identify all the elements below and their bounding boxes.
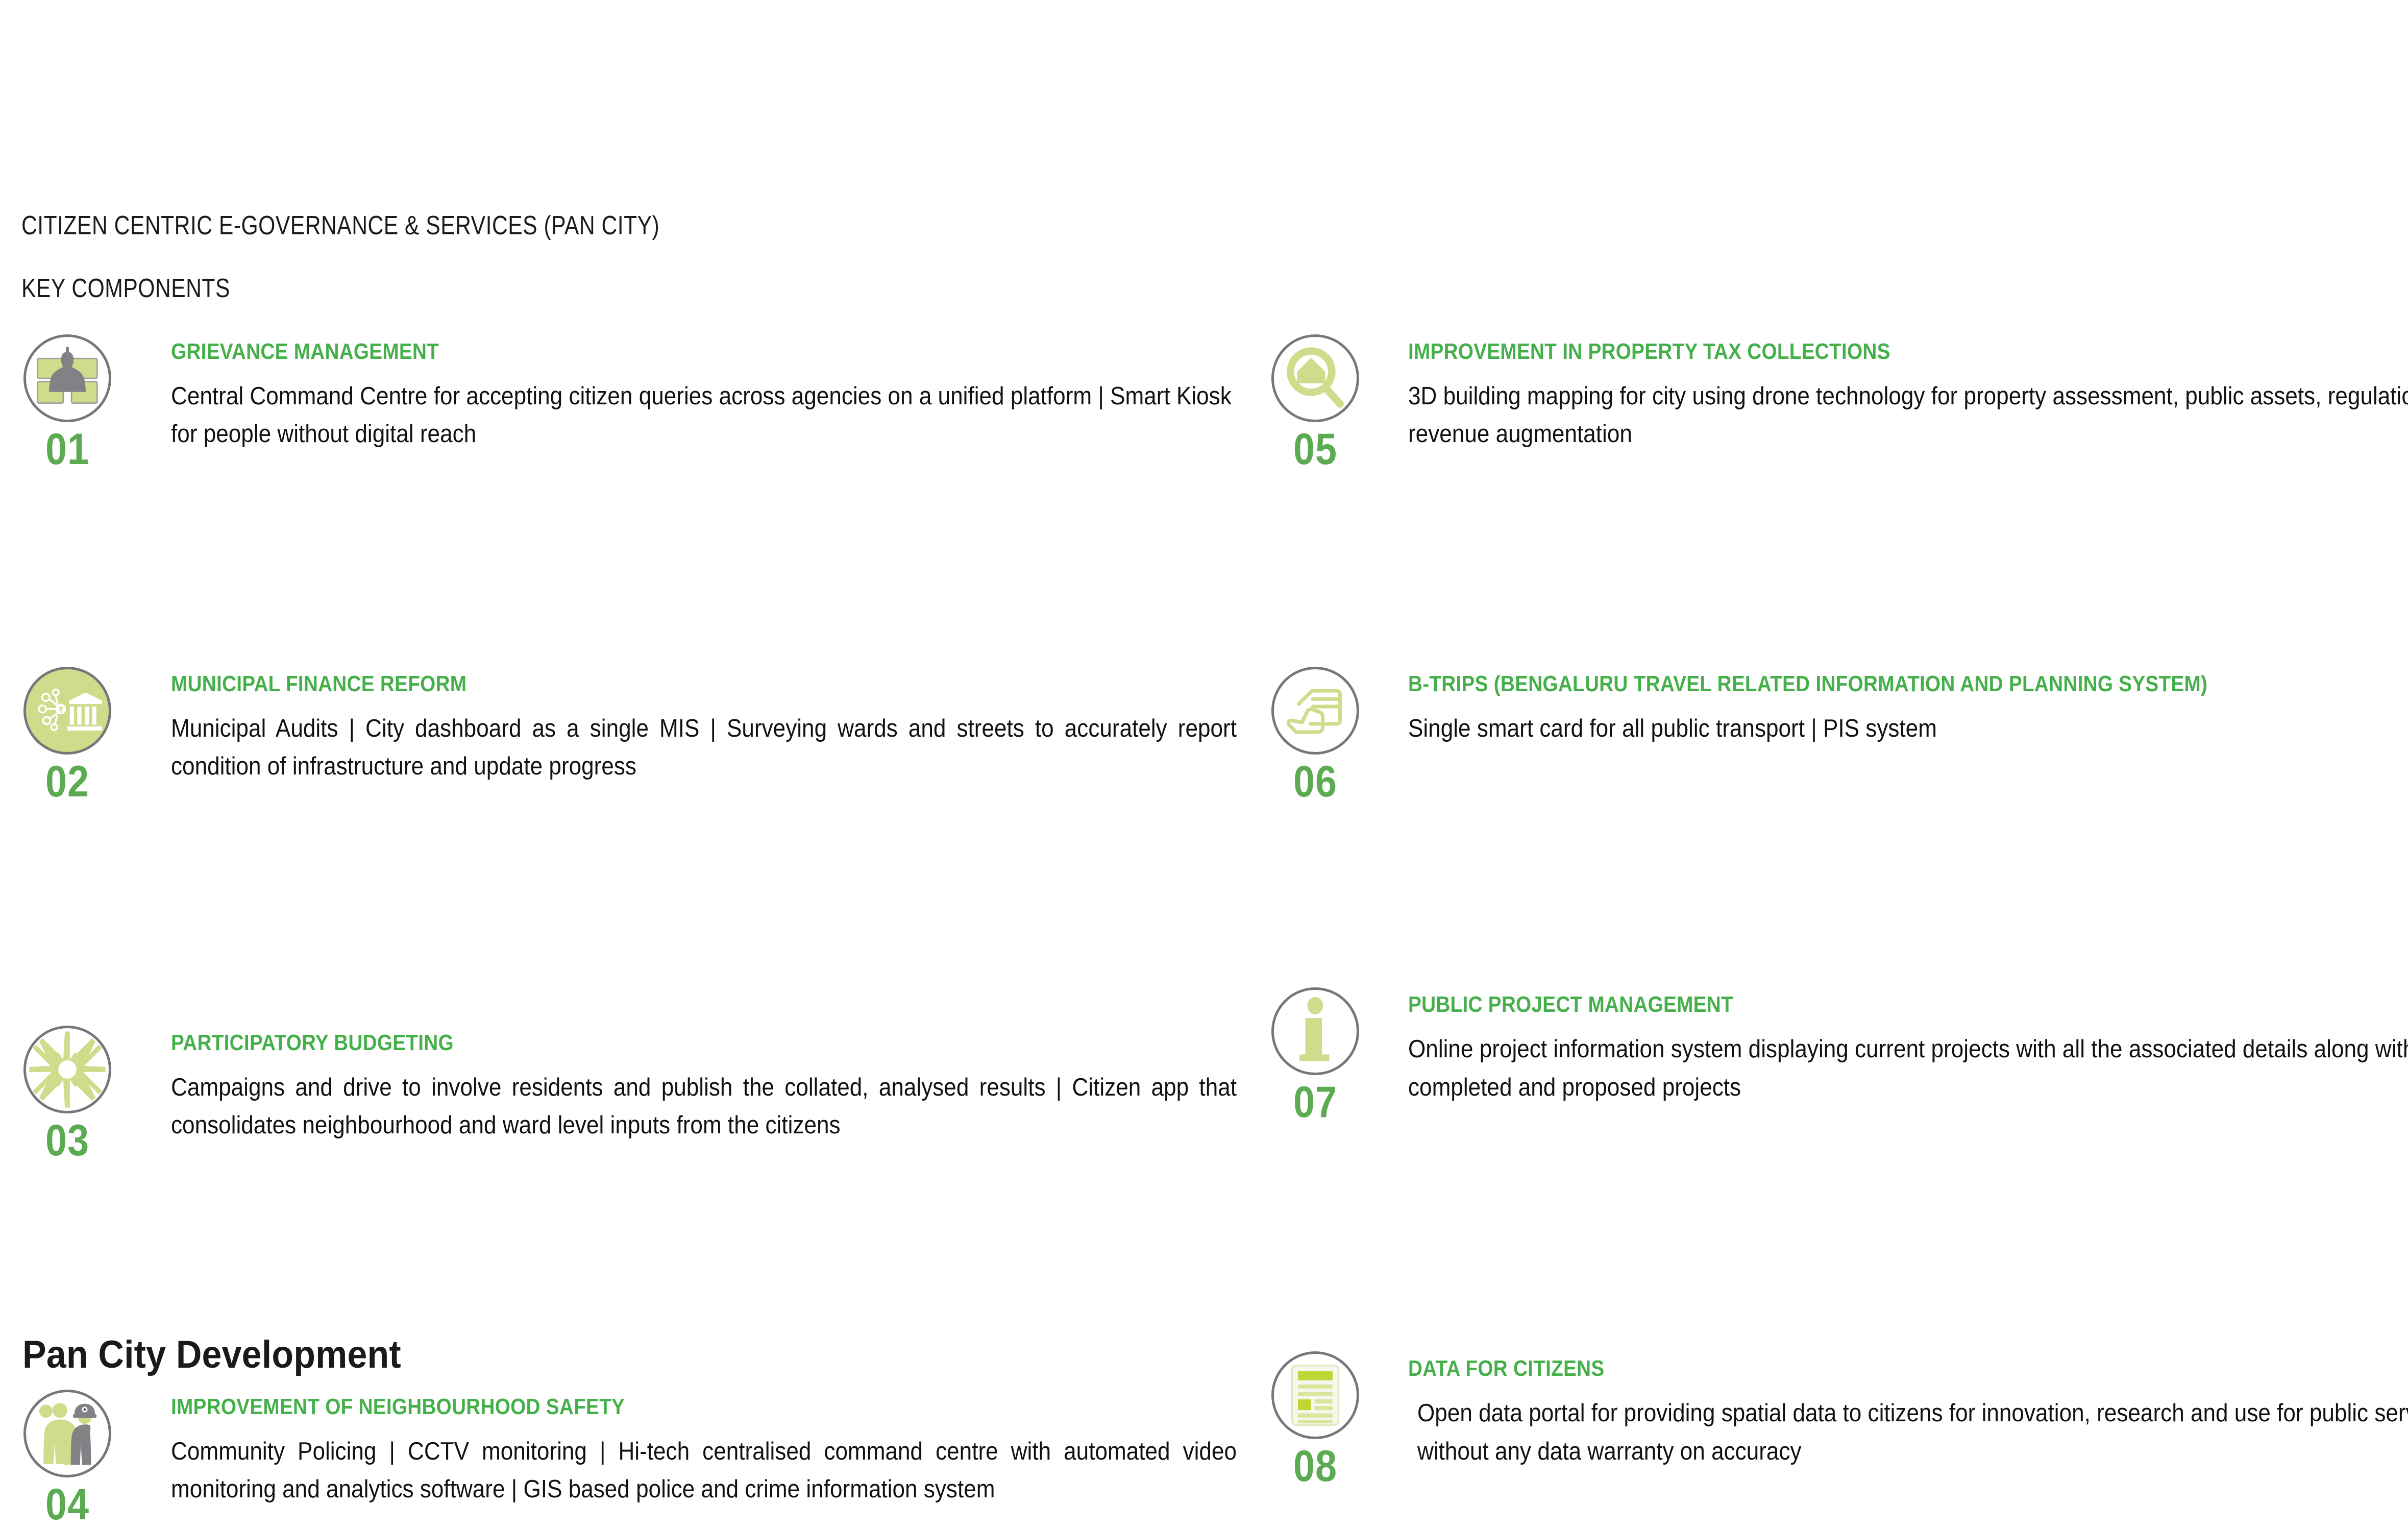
component-item-03[interactable]: 03 PARTICIPATORY BUDGETING Campaigns and… <box>21 1026 1226 1145</box>
component-title-02: MUNICIPAL FINANCE REFORM <box>171 667 1099 695</box>
component-body-08: DATA FOR CITIZENS Open data portal for p… <box>1269 1351 2387 1470</box>
component-description-05: 3D building mapping for city using drone… <box>1408 377 2408 453</box>
component-body-05: IMPROVEMENT IN PROPERTY TAX COLLECTIONS … <box>1269 334 2387 453</box>
component-description-07: Online project information system displa… <box>1408 1030 2408 1106</box>
component-icon-wrap-06: 06 <box>1269 667 1361 804</box>
component-title-08: DATA FOR CITIZENS <box>1408 1351 2270 1380</box>
key-components-subtitle: KEY COMPONENTS <box>21 275 1277 303</box>
component-item-04[interactable]: 04 IMPROVEMENT OF NEIGHBOURHOOD SAFETY C… <box>21 1390 1226 1509</box>
component-body-07: PUBLIC PROJECT MANAGEMENT Online project… <box>1269 987 2387 1106</box>
component-item-02[interactable]: ₹ 02 MUNICIPAL FINANCE REFORM <box>21 667 1226 786</box>
component-number-02: 02 <box>27 760 108 804</box>
component-icon-wrap-08: 08 <box>1269 1351 1361 1488</box>
hand-swiping-smartcard-icon <box>1271 667 1359 755</box>
component-number-07: 07 <box>1275 1080 1356 1124</box>
page-title: CITIZEN CENTRIC E-GOVERNANCE & SERVICES … <box>21 212 1277 240</box>
component-title-06: B-TRIPS (BENGALURU TRAVEL RELATED INFORM… <box>1408 667 2270 695</box>
component-item-05[interactable]: 05 IMPROVEMENT IN PROPERTY TAX COLLECTIO… <box>1269 334 2387 453</box>
component-description-08: Open data portal for providing spatial d… <box>1408 1394 2408 1470</box>
component-number-01: 01 <box>27 427 108 471</box>
component-item-08[interactable]: 08 DATA FOR CITIZENS Open data portal fo… <box>1269 1351 2387 1470</box>
component-item-07[interactable]: 07 PUBLIC PROJECT MANAGEMENT Online proj… <box>1269 987 2387 1106</box>
component-body-02: MUNICIPAL FINANCE REFORM Municipal Audit… <box>21 667 1226 786</box>
component-number-08: 08 <box>1275 1444 1356 1488</box>
component-description-03: Campaigns and drive to involve residents… <box>171 1069 1237 1145</box>
component-icon-wrap-01: 01 <box>21 334 113 471</box>
component-body-01: GRIEVANCE MANAGEMENT Central Command Cen… <box>21 334 1226 453</box>
component-title-01: GRIEVANCE MANAGEMENT <box>171 334 1099 363</box>
component-body-03: PARTICIPATORY BUDGETING Campaigns and dr… <box>21 1026 1226 1145</box>
component-icon-wrap-03: 03 <box>21 1026 113 1162</box>
component-description-02: Municipal Audits | City dashboard as a s… <box>171 710 1237 786</box>
footer-title: Pan City Development <box>22 1332 401 1377</box>
components-column-right: 05 IMPROVEMENT IN PROPERTY TAX COLLECTIO… <box>1269 334 2387 772</box>
component-item-01[interactable]: 01 GRIEVANCE MANAGEMENT Central Command … <box>21 334 1226 453</box>
family-and-policeman-icon <box>23 1390 111 1477</box>
component-title-07: PUBLIC PROJECT MANAGEMENT <box>1408 987 2270 1016</box>
slide-heading-block: CITIZEN CENTRIC E-GOVERNANCE & SERVICES … <box>21 212 1553 302</box>
open-data-document-icon <box>1271 1351 1359 1439</box>
component-body-06: B-TRIPS (BENGALURU TRAVEL RELATED INFORM… <box>1269 667 2387 747</box>
component-title-03: PARTICIPATORY BUDGETING <box>171 1026 1099 1054</box>
magnifier-house-icon <box>1271 334 1359 422</box>
component-description-04: Community Policing | CCTV monitoring | H… <box>171 1433 1237 1509</box>
component-icon-wrap-07: 07 <box>1269 987 1361 1124</box>
information-i-icon <box>1271 987 1359 1075</box>
key-components-grid: 01 GRIEVANCE MANAGEMENT Central Command … <box>0 334 2408 1202</box>
component-title-04: IMPROVEMENT OF NEIGHBOURHOOD SAFETY <box>171 1390 1099 1418</box>
bank-building-network-icon: ₹ <box>23 667 111 755</box>
component-number-04: 04 <box>27 1483 108 1526</box>
component-number-05: 05 <box>1275 427 1356 471</box>
components-column-left: 01 GRIEVANCE MANAGEMENT Central Command … <box>21 334 1226 810</box>
component-title-05: IMPROVEMENT IN PROPERTY TAX COLLECTIONS <box>1408 334 2270 363</box>
svg-text:₹: ₹ <box>58 707 63 715</box>
hands-together-icon <box>23 1026 111 1113</box>
component-description-01: Central Command Centre for accepting cit… <box>171 377 1237 453</box>
component-icon-wrap-04: 04 <box>21 1390 113 1526</box>
component-icon-wrap-02: ₹ 02 <box>21 667 113 804</box>
component-number-03: 03 <box>27 1119 108 1162</box>
component-description-06: Single smart card for all public transpo… <box>1408 710 2408 747</box>
component-number-06: 06 <box>1275 760 1356 804</box>
component-item-06[interactable]: 06 B-TRIPS (BENGALURU TRAVEL RELATED INF… <box>1269 667 2387 747</box>
person-with-window-panes-icon <box>23 334 111 422</box>
component-body-04: IMPROVEMENT OF NEIGHBOURHOOD SAFETY Comm… <box>21 1390 1226 1509</box>
component-icon-wrap-05: 05 <box>1269 334 1361 471</box>
